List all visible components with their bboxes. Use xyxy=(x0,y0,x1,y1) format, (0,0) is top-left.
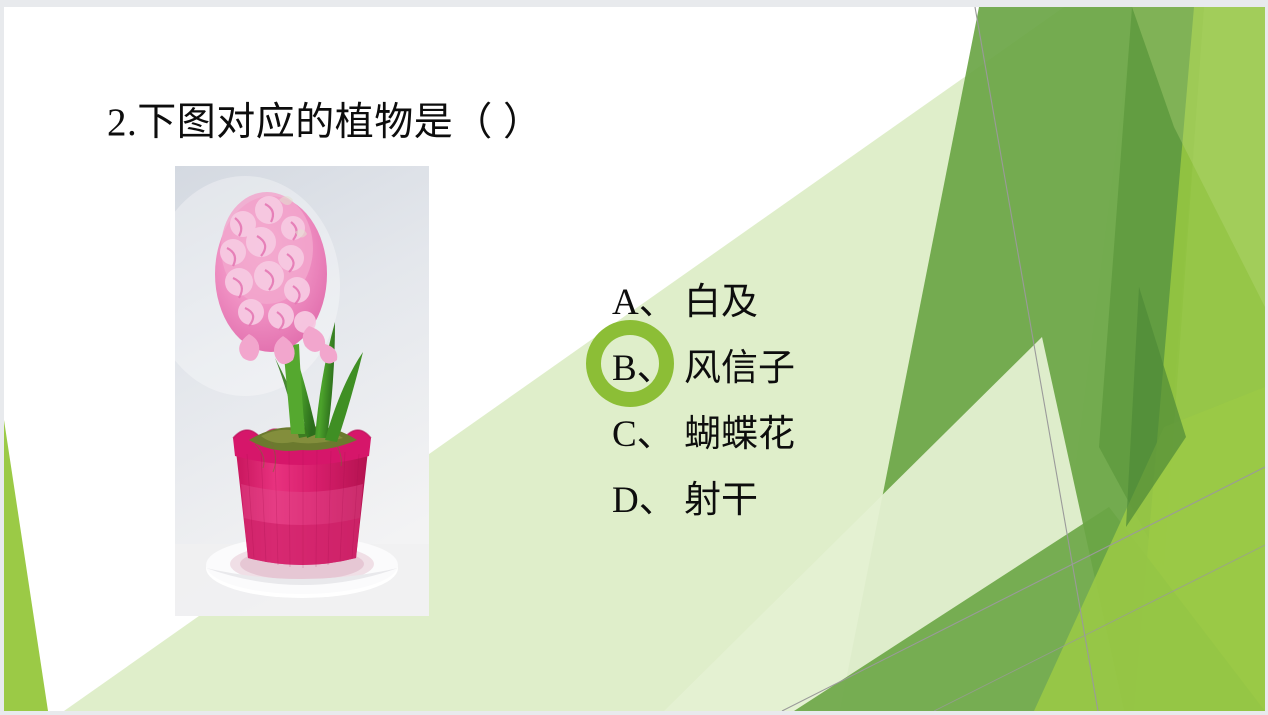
facet-shape-mid-lower xyxy=(794,507,1265,711)
option-letter-a: A、 xyxy=(612,271,684,325)
option-text-c: 蝴蝶花 xyxy=(684,403,795,457)
option-text-a: 白及 xyxy=(684,271,758,325)
option-row-c[interactable]: C、 蝴蝶花 xyxy=(612,397,1032,463)
facet-shape-bright-band xyxy=(1134,7,1265,711)
facet-shape-tint-upper-right xyxy=(1132,7,1265,307)
hyacinth-illustration xyxy=(175,166,429,616)
option-letter-d: D、 xyxy=(612,469,684,523)
option-text-d: 射干 xyxy=(684,469,758,523)
facet-shape-deep-mid xyxy=(1126,287,1186,527)
option-row-a[interactable]: A、 白及 xyxy=(612,265,1032,331)
option-letter-c: C、 xyxy=(612,403,684,457)
option-row-d[interactable]: D、 射干 xyxy=(612,463,1032,529)
facet-shape-left-wedge xyxy=(4,420,48,711)
plant-photo xyxy=(175,166,429,616)
facet-shape-light-lower-right xyxy=(1034,387,1265,711)
question-title: 2.下图对应的植物是（ ） xyxy=(107,99,543,147)
option-text-b: 风信子 xyxy=(684,337,795,391)
facet-line-diagonal-long xyxy=(934,545,1265,711)
answer-options-list: A、 白及 B、 风信子 C、 蝴蝶花 D、 射干 xyxy=(612,265,1032,529)
slide-canvas: 2.下图对应的植物是（ ） xyxy=(4,7,1265,711)
option-letter-b: B、 xyxy=(612,337,684,391)
presentation-slide: 2.下图对应的植物是（ ） xyxy=(0,0,1268,715)
option-row-b[interactable]: B、 风信子 xyxy=(612,331,1032,397)
facet-shape-right-base xyxy=(1044,7,1265,711)
facet-shape-dark-sliver xyxy=(1099,7,1204,567)
